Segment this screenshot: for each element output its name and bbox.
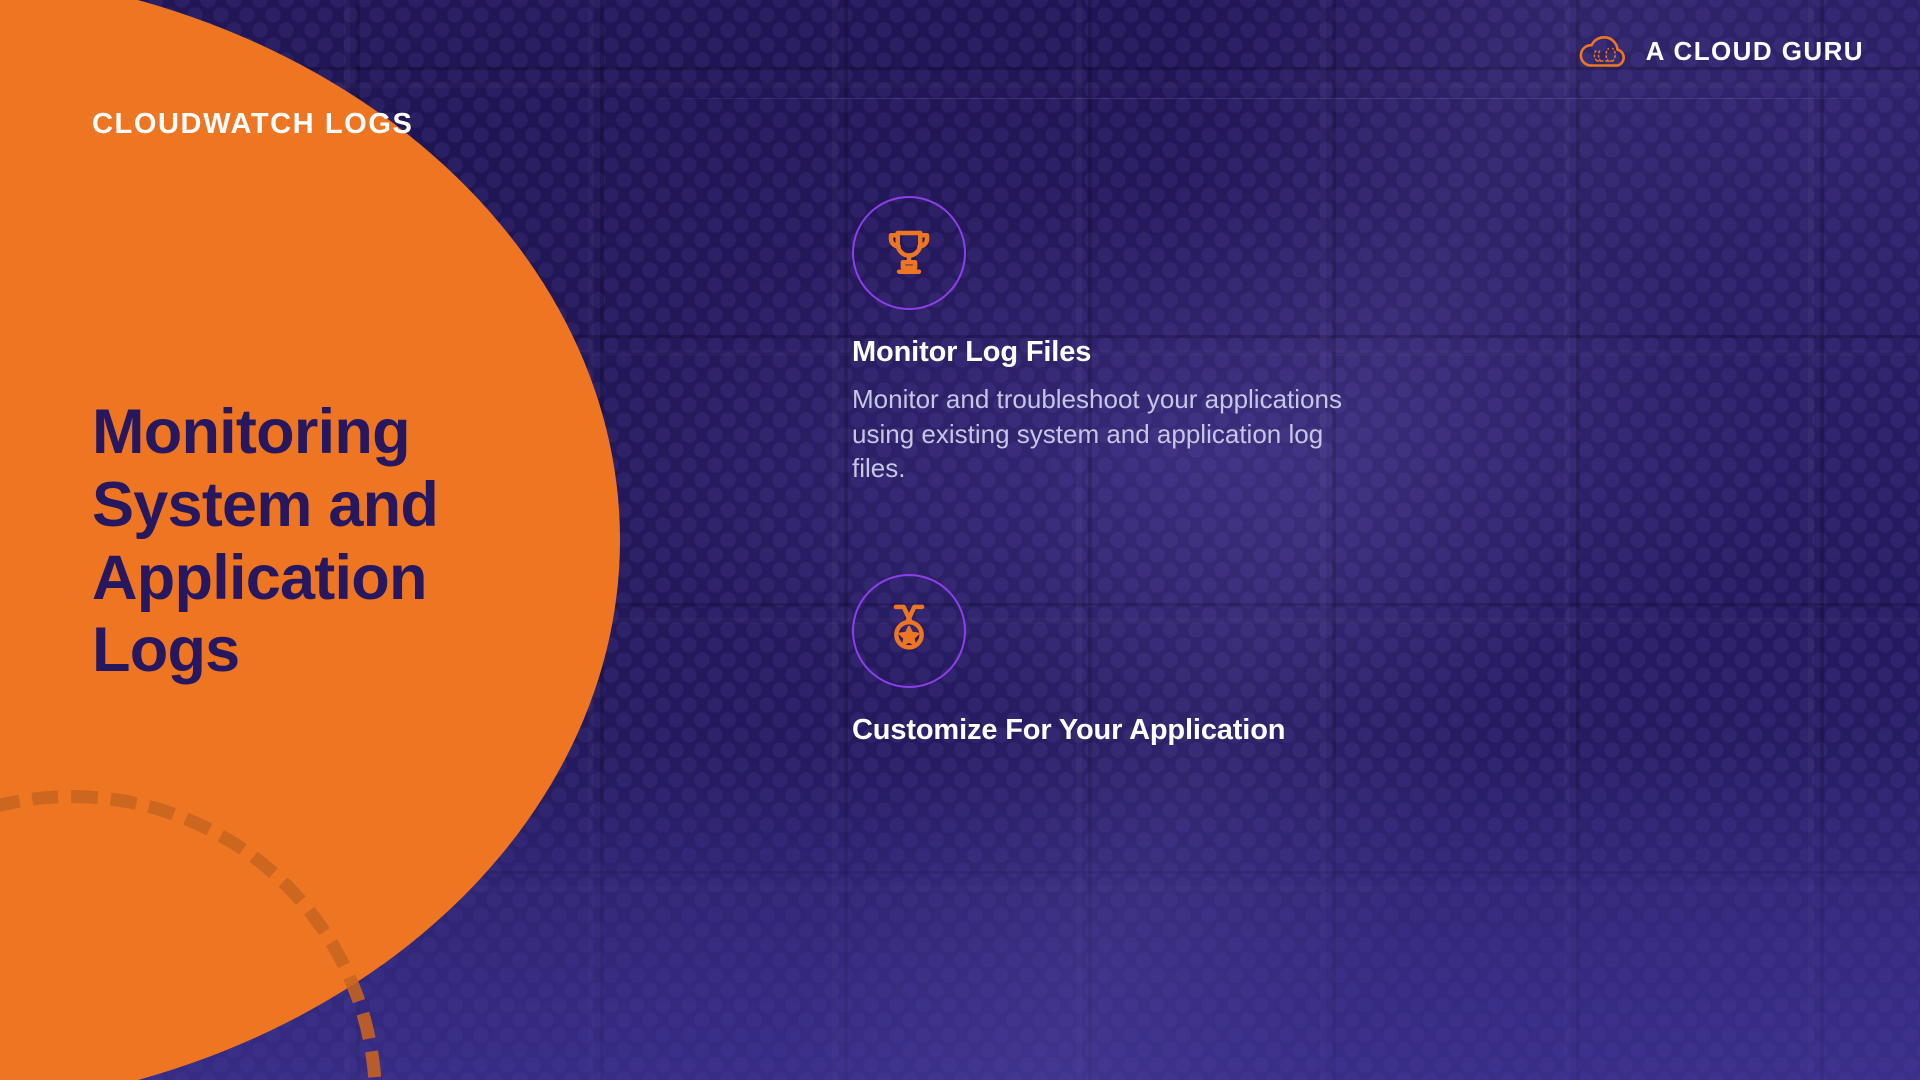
- eyebrow-label: CLOUDWATCH LOGS: [92, 108, 413, 141]
- feature-card-title: Customize For Your Application: [852, 714, 1372, 747]
- icon-ring: [852, 196, 966, 310]
- brand-logo: A CLOUD GURU: [1576, 30, 1864, 73]
- brand-name: A CLOUD GURU: [1646, 36, 1864, 67]
- icon-ring: [852, 574, 966, 688]
- header-divider: [600, 98, 1920, 99]
- feature-card: Monitor Log Files Monitor and troublesho…: [852, 196, 1372, 486]
- feature-card-title: Monitor Log Files: [852, 336, 1372, 369]
- page-title: Monitoring System and Application Logs: [92, 396, 562, 687]
- feature-card-list: Monitor Log Files Monitor and troublesho…: [852, 196, 1372, 760]
- cloud-icon: [1576, 30, 1632, 73]
- feature-card-description: Monitor and troubleshoot your applicatio…: [852, 382, 1372, 486]
- feature-card: Customize For Your Application: [852, 574, 1372, 747]
- medal-icon: [882, 601, 936, 660]
- trophy-icon: [882, 224, 936, 283]
